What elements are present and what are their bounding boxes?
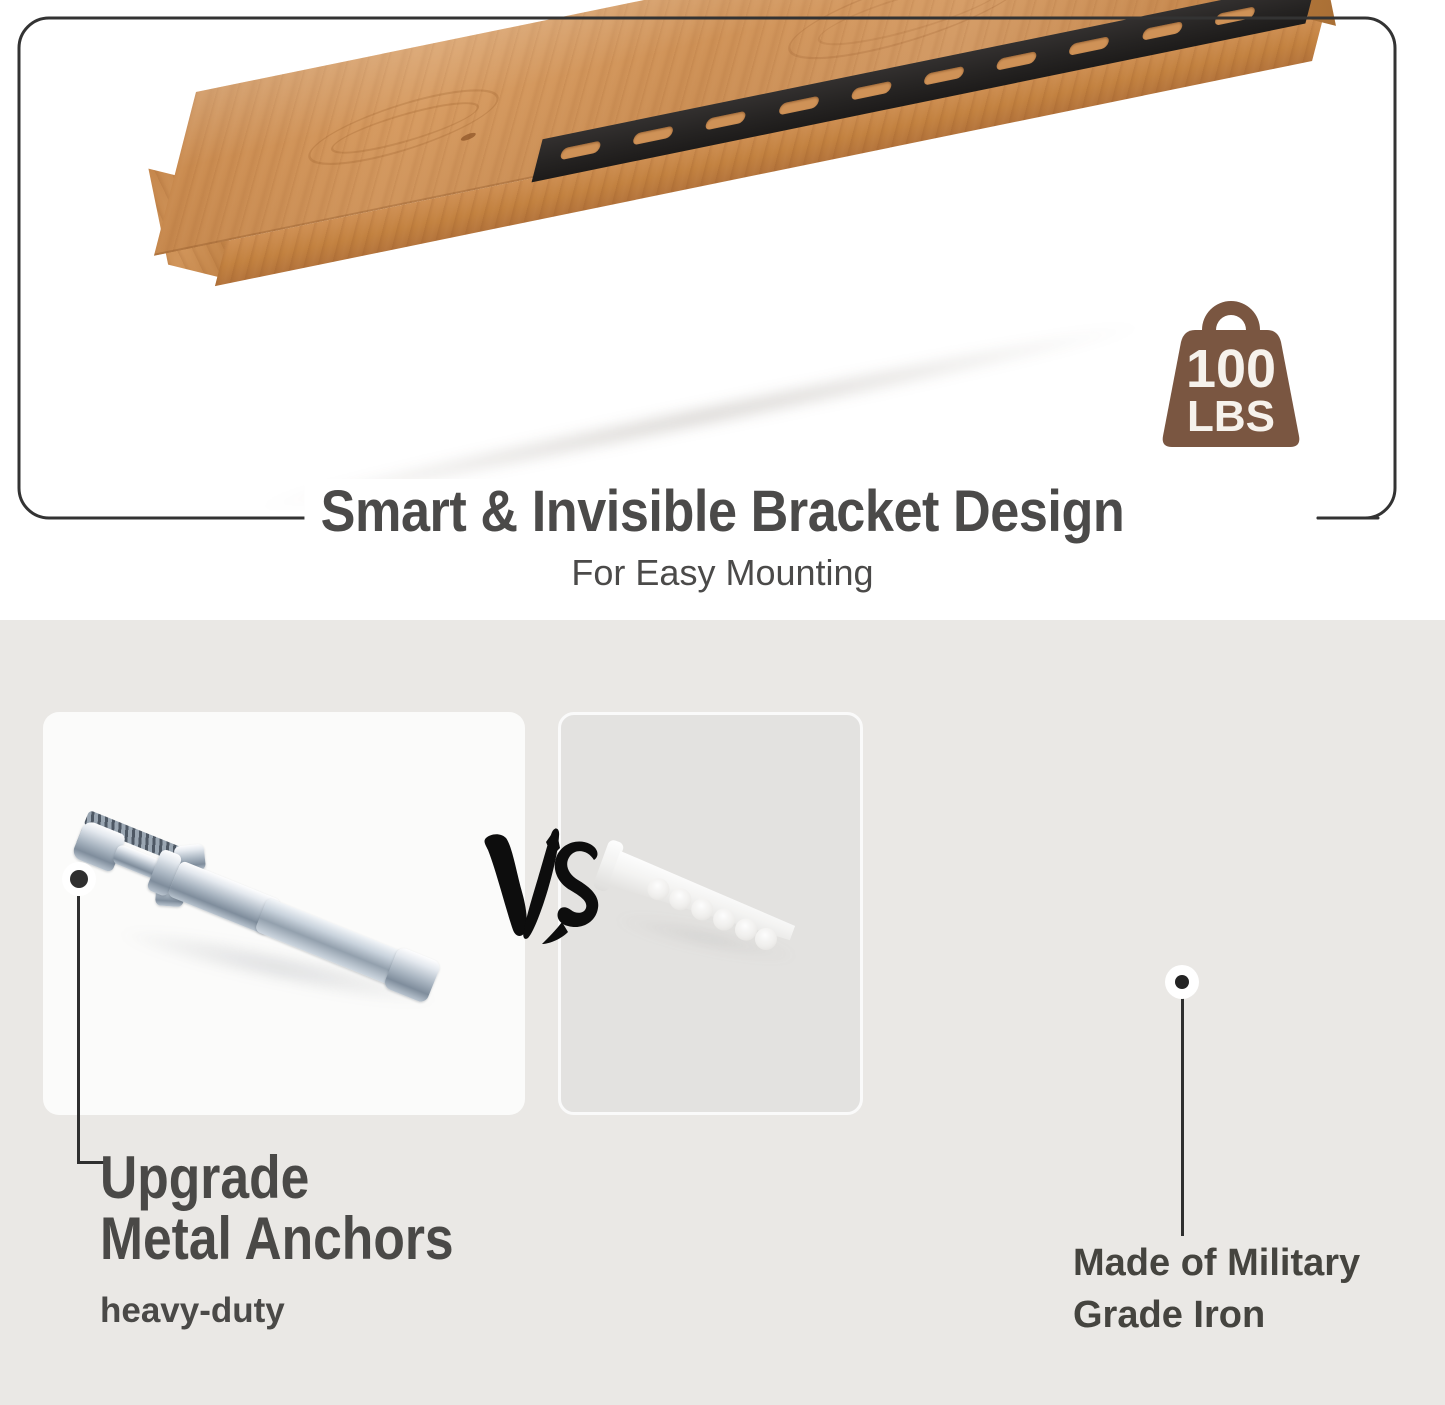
weight-unit: LBS [1187,392,1275,441]
iron-pipe-callout-text: Made of Military Grade Iron [1073,1237,1360,1342]
callout-leader-right-vertical [1181,998,1184,1236]
bracket-slot [632,125,674,145]
bracket-slot [923,66,965,86]
callout-ring-right [1165,965,1199,999]
wood-knot [459,131,477,142]
bracket-slot [559,140,601,160]
callout-right-line1: Made of Military [1073,1237,1360,1289]
page-title: Smart & Invisible Bracket Design [72,478,1373,545]
bracket-slot [996,51,1038,71]
metal-toggle-anchor-bolt [69,810,468,1015]
bracket-slot [1068,36,1110,56]
callout-subtext: heavy-duty [100,1291,511,1331]
bracket-slot [778,96,820,116]
floating-shelf [196,0,1335,298]
callout-leader-left-vertical [77,896,80,1164]
page-subtitle: For Easy Mounting [0,552,1445,594]
product-infographic: 100 LBS Smart & Invisible Bracket Design… [0,0,1445,1405]
metal-anchor-photo [43,712,525,1115]
weight-value: 100 [1186,339,1276,399]
callout-heading-line1: Upgrade [100,1147,454,1208]
callout-right-line2: Grade Iron [1073,1289,1360,1341]
callout-dot-left [62,862,96,896]
callout-heading-line2: Metal Anchors [100,1208,454,1269]
versus-icon [476,826,606,954]
shelf-product-image [0,0,1445,560]
weight-capacity-badge: 100 LBS [1147,286,1315,454]
bracket-slot [850,81,892,101]
bracket-slot [1214,6,1256,26]
top-section: 100 LBS Smart & Invisible Bracket Design… [0,0,1445,620]
page-title-text: Smart & Invisible Bracket Design [304,479,1140,544]
bracket-slot [1141,21,1183,41]
metal-anchor-callout-text: Upgrade Metal Anchors heavy-duty [100,1147,511,1331]
bracket-slot [705,111,747,131]
